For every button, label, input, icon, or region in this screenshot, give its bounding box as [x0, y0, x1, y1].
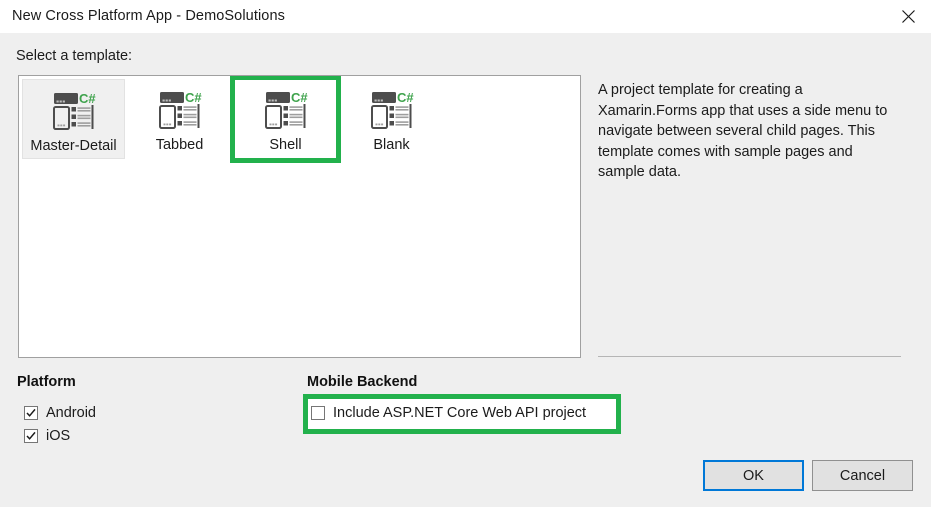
checkbox-box[interactable]	[311, 406, 325, 420]
template-item-label: Master-Detail	[30, 139, 116, 155]
close-icon[interactable]	[885, 0, 931, 33]
title-bar: New Cross Platform App - DemoSolutions	[0, 0, 931, 33]
cancel-button[interactable]: Cancel	[812, 460, 913, 491]
template-item-label: Shell	[269, 138, 301, 154]
csharp-mobile-template-icon: C#	[158, 89, 202, 131]
checkbox-ios[interactable]: iOS	[24, 428, 70, 444]
checkbox-android[interactable]: Android	[24, 405, 96, 421]
checkbox-label: Include ASP.NET Core Web API project	[333, 405, 586, 421]
template-item-blank[interactable]: C#	[340, 79, 443, 159]
template-item-master-detail[interactable]: C#	[22, 79, 125, 159]
svg-text:C#: C#	[397, 90, 414, 105]
platform-heading: Platform	[17, 374, 76, 390]
template-item-shell[interactable]: C#	[234, 79, 337, 159]
new-cross-platform-app-dialog: New Cross Platform App - DemoSolutions S…	[0, 0, 931, 507]
description-separator	[598, 356, 901, 357]
template-description: A project template for creating a Xamari…	[598, 80, 900, 183]
svg-text:C#: C#	[185, 90, 202, 105]
checkbox-box[interactable]	[24, 429, 38, 443]
template-item-label: Tabbed	[156, 138, 204, 154]
csharp-mobile-template-icon: C#	[52, 90, 96, 132]
checkbox-box[interactable]	[24, 406, 38, 420]
checkbox-label: iOS	[46, 428, 70, 444]
window-title: New Cross Platform App - DemoSolutions	[12, 8, 285, 24]
checkbox-include-web-api[interactable]: Include ASP.NET Core Web API project	[311, 405, 586, 421]
checkbox-label: Android	[46, 405, 96, 421]
ok-button[interactable]: OK	[703, 460, 804, 491]
csharp-mobile-template-icon: C#	[370, 89, 414, 131]
template-list-row: C#	[19, 76, 443, 159]
template-item-tabbed[interactable]: C#	[128, 79, 231, 159]
svg-text:C#: C#	[79, 91, 96, 106]
select-template-label: Select a template:	[16, 48, 132, 64]
template-listbox[interactable]: C#	[18, 75, 581, 358]
svg-text:C#: C#	[291, 90, 308, 105]
template-item-label: Blank	[373, 138, 409, 154]
csharp-mobile-template-icon: C#	[264, 89, 308, 131]
mobile-backend-heading: Mobile Backend	[307, 374, 417, 390]
